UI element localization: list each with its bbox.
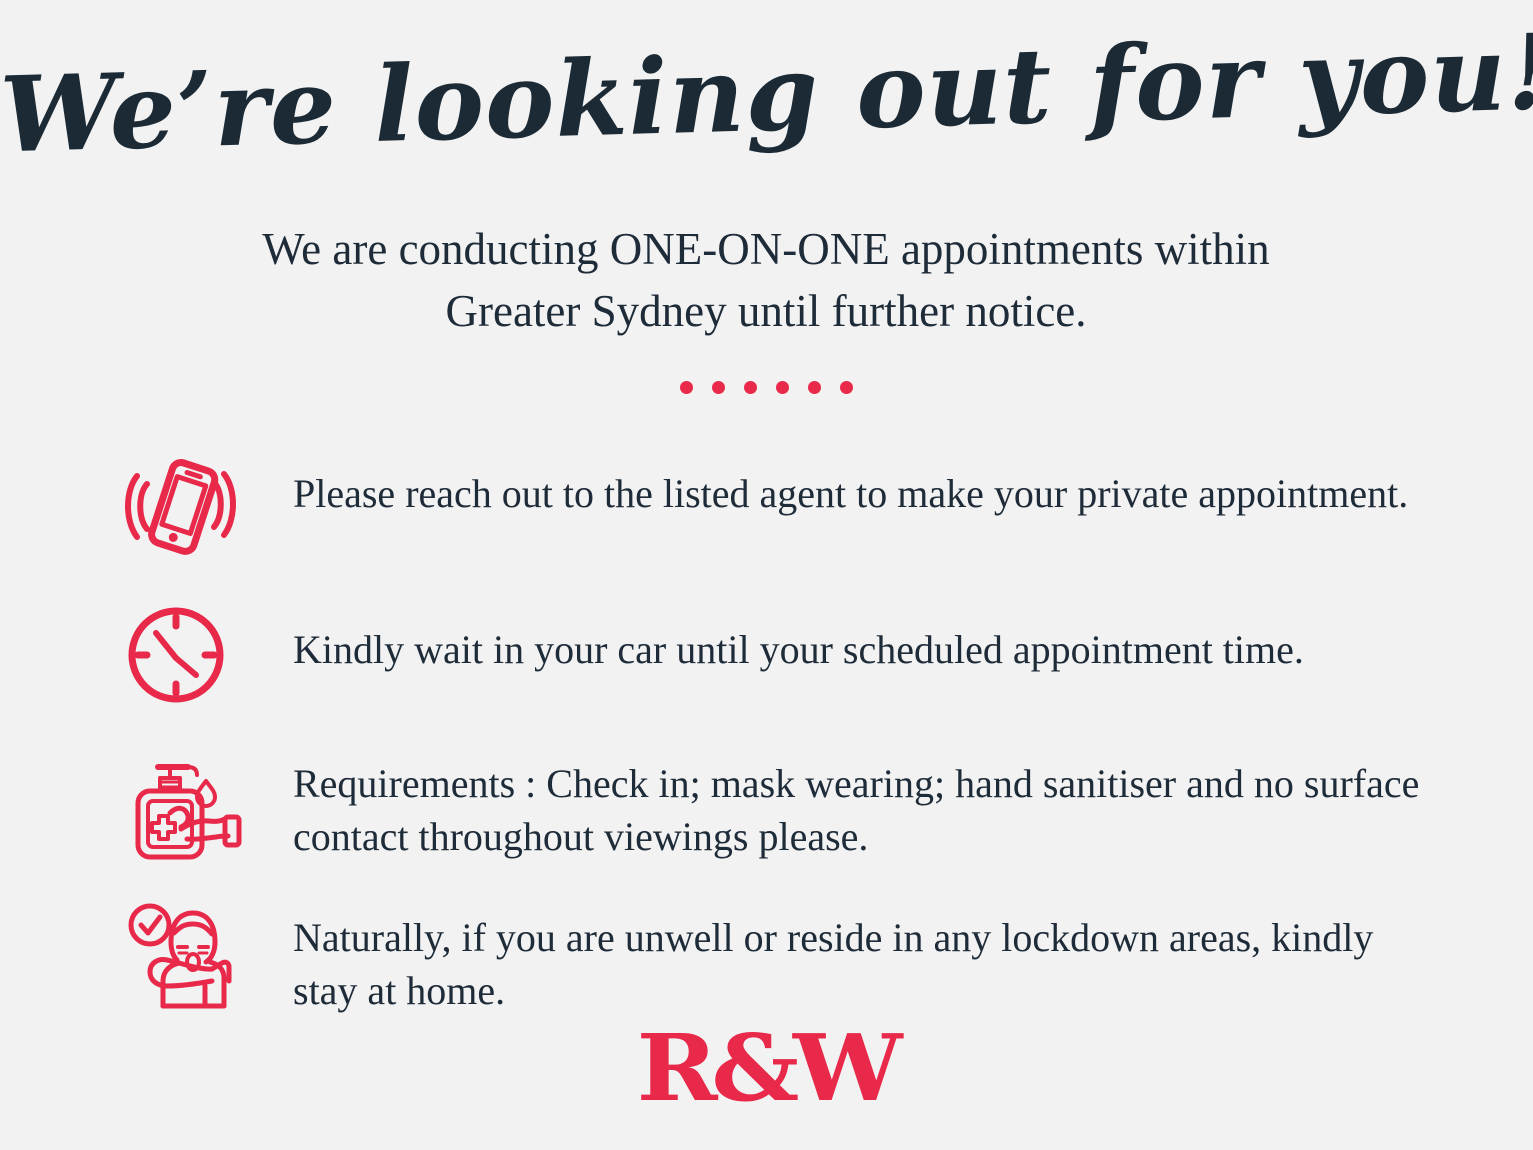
divider-dot [712, 381, 725, 394]
divider-dot [776, 381, 789, 394]
rw-logo-wordmark: R&W [637, 1022, 897, 1114]
list-item-text: Please reach out to the listed agent to … [293, 447, 1448, 520]
hand-sanitiser-icon [118, 745, 293, 865]
list-item: Kindly wait in your car until your sched… [118, 595, 1448, 723]
divider-dot [680, 381, 693, 394]
page-title: We’re looking out for you! [0, 13, 1533, 175]
subtitle-line-1: We are conducting ONE-ON-ONE appointment… [262, 224, 1269, 274]
poster-canvas: We’re looking out for you! We are conduc… [0, 0, 1533, 1150]
list-item: Naturally, if you are unwell or reside i… [118, 897, 1448, 1025]
vibrating-phone-icon [118, 447, 293, 567]
list-item-text: Requirements : Check in; mask wearing; h… [293, 745, 1448, 863]
divider-dot [840, 381, 853, 394]
subtitle: We are conducting ONE-ON-ONE appointment… [216, 218, 1316, 342]
dot-divider [0, 381, 1533, 394]
divider-dot [744, 381, 757, 394]
clock-icon [118, 595, 293, 715]
list-item: Requirements : Check in; mask wearing; h… [118, 745, 1448, 873]
list-item: Please reach out to the listed agent to … [118, 447, 1448, 575]
rw-logo: R&W [0, 1022, 1533, 1114]
list-item-text: Naturally, if you are unwell or reside i… [293, 897, 1448, 1017]
guidelines-list: Please reach out to the listed agent to … [118, 447, 1448, 1025]
divider-dot [808, 381, 821, 394]
cough-into-elbow-icon [118, 897, 293, 1017]
list-item-text: Kindly wait in your car until your sched… [293, 595, 1448, 676]
subtitle-line-2: Greater Sydney until further notice. [216, 280, 1316, 342]
